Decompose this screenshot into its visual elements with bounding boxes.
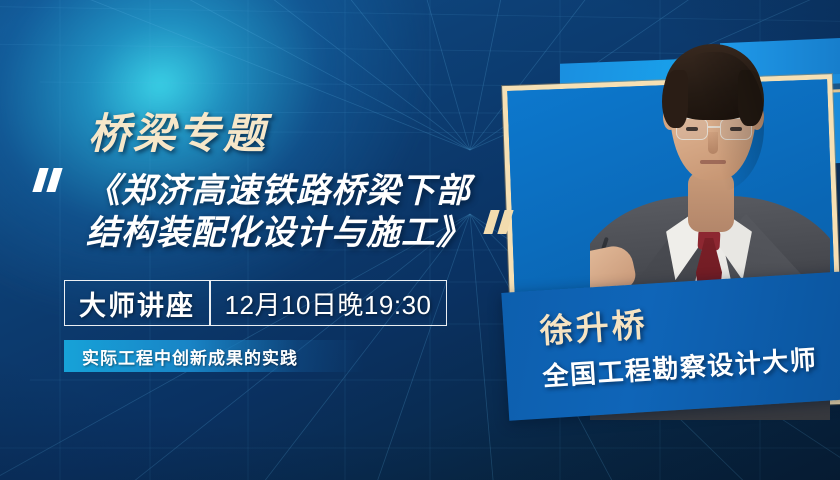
quote-open-icon — [36, 168, 70, 194]
title-line-1: 《郑济高速铁路桥梁下部 — [86, 170, 506, 212]
title-line-2: 结构装配化设计与施工》 — [86, 212, 506, 254]
speaker-name-banner: 徐升桥 全国工程勘察设计大师 — [501, 271, 840, 420]
page-title: 《郑济高速铁路桥梁下部 结构装配化设计与施工》 — [86, 170, 506, 254]
quote-close-icon — [487, 210, 519, 236]
event-badge: 大师讲座 12月10日晚19:30 — [64, 280, 447, 326]
kicker-text: 桥梁专题 — [88, 100, 268, 161]
poster-canvas: 桥梁专题 《郑济高速铁路桥梁下部 结构装配化设计与施工》 大师讲座 12月10日… — [0, 0, 840, 480]
badge-datetime-label: 12月10日晚19:30 — [211, 281, 446, 325]
subtitle-text: 实际工程中创新成果的实践 — [64, 344, 298, 369]
badge-category-label: 大师讲座 — [65, 281, 209, 325]
subtitle-bar: 实际工程中创新成果的实践 — [64, 340, 364, 372]
